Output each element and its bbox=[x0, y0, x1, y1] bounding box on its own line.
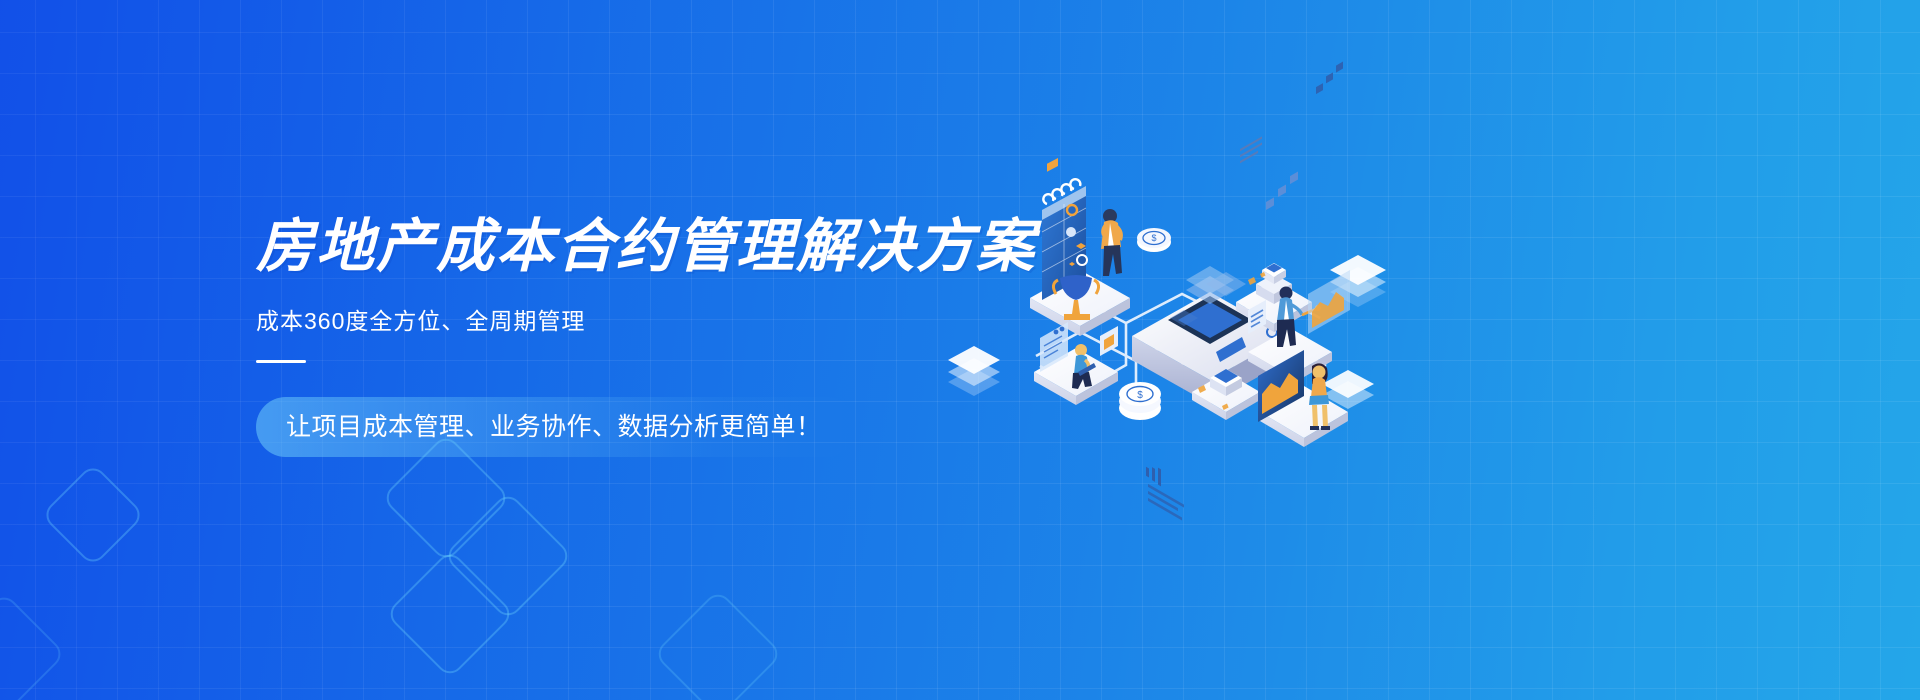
dollar-coin-icon: $ bbox=[1137, 228, 1171, 252]
diamond-outline-icon bbox=[41, 463, 146, 568]
dollar-coin-stack-icon: $ bbox=[1119, 382, 1161, 420]
page-title: 房地产成本合约管理解决方案 bbox=[256, 215, 1016, 280]
central-server-hub bbox=[1132, 136, 1288, 520]
title-divider bbox=[256, 360, 306, 363]
diamond-outline-icon bbox=[0, 592, 66, 700]
diamond-outline-icon bbox=[443, 491, 573, 621]
hero-copy-block: 房地产成本合约管理解决方案 成本360度全方位、全周期管理 让项目成本管理、业务… bbox=[256, 215, 1016, 457]
svg-text:$: $ bbox=[1137, 390, 1143, 401]
isometric-illustration: $ bbox=[930, 160, 1400, 450]
diamond-outline-icon bbox=[385, 549, 515, 679]
chart-screen-panel bbox=[1308, 62, 1350, 334]
svg-text:$: $ bbox=[1151, 233, 1156, 243]
layered-plates-icon bbox=[948, 346, 1000, 396]
standing-man-figure bbox=[1101, 209, 1122, 276]
hero-banner: 房地产成本合约管理解决方案 成本360度全方位、全周期管理 让项目成本管理、业务… bbox=[0, 0, 1920, 700]
page-subtitle: 成本360度全方位、全周期管理 bbox=[256, 302, 1016, 336]
hub-bar-chart-icon bbox=[1146, 467, 1161, 487]
tagline-badge: 让项目成本管理、业务协作、数据分析更简单！ bbox=[256, 397, 856, 457]
diamond-outline-icon bbox=[653, 589, 783, 700]
